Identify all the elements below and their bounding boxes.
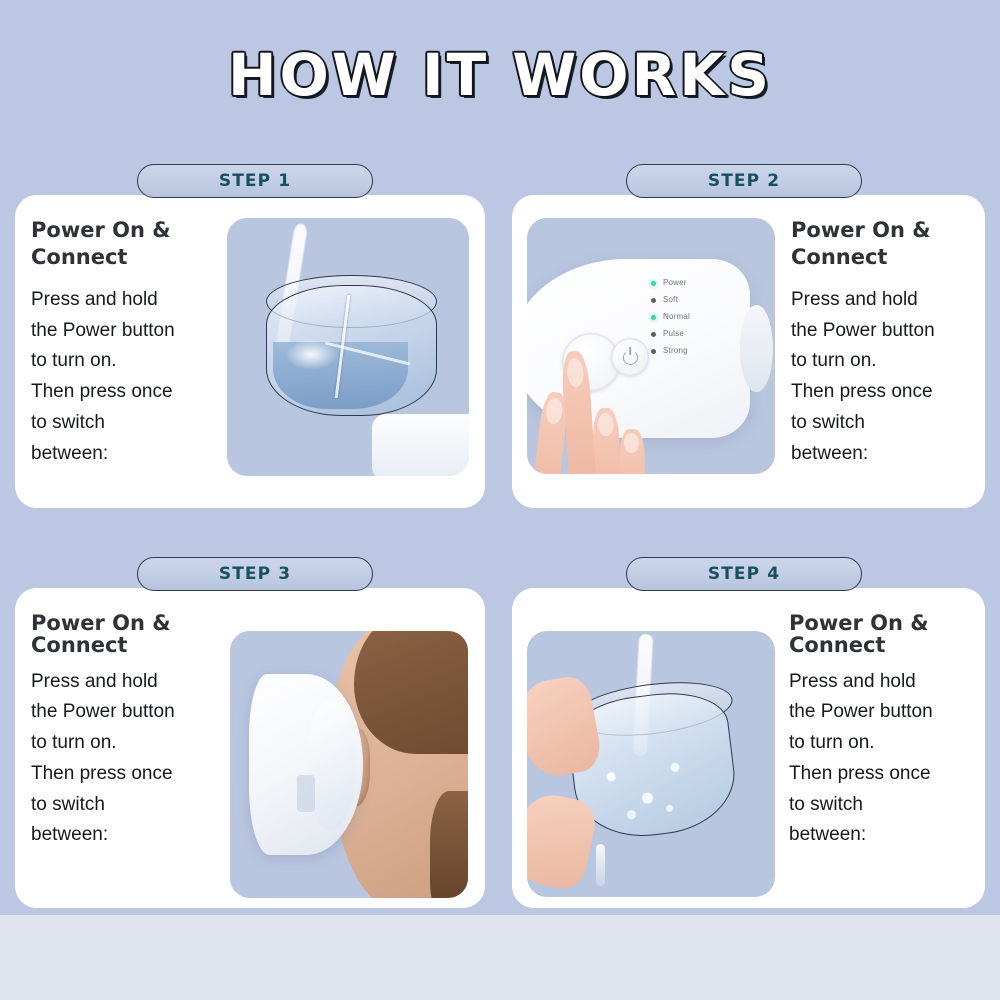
step-card-3: Power On & Connect Press and hold the Po…: [15, 588, 485, 908]
step-body-4: Press and hold the Power button to turn …: [789, 667, 985, 852]
step-text-column-3: Power On & Connect Press and hold the Po…: [15, 612, 220, 851]
fingernail: [624, 433, 640, 453]
step-text-column-1: Power On & Connect Press and hold the Po…: [15, 217, 215, 469]
step-heading-1: Power On & Connect: [31, 217, 215, 271]
finger: [561, 350, 597, 474]
breast-shield-flange: [249, 674, 363, 856]
step-body-2: Press and hold the Power button to turn …: [791, 285, 985, 470]
step-heading-4: Power On & Connect: [789, 612, 985, 657]
hair-strand: [430, 791, 468, 898]
led-row: Normal: [651, 313, 690, 321]
pulse-led-dot: [651, 332, 656, 337]
led-row: Pulse: [651, 330, 690, 338]
step-badge-label-4: STEP 4: [708, 566, 780, 583]
device-side-port: [740, 305, 772, 392]
step-card-1: Power On & Connect Press and hold the Po…: [15, 195, 485, 508]
page-title: HOW IT WORKS: [228, 46, 772, 104]
infographic-page: HOW IT WORKS STEP 1 Power On & Connect P…: [0, 0, 1000, 1000]
step-text-column-4: Power On & Connect Press and hold the Po…: [775, 612, 985, 851]
led-label: Soft: [663, 296, 678, 304]
hand-pressing-button: [532, 341, 661, 474]
flange-tab: [297, 775, 315, 811]
device-base-unit: [372, 414, 469, 476]
panel-scene: Power Soft Normal Pulse: [527, 218, 775, 474]
step-body-3: Press and hold the Power button to turn …: [31, 667, 220, 852]
led-label: Power: [663, 279, 687, 287]
normal-led-dot: [651, 315, 656, 320]
water-splash: [285, 339, 338, 370]
step-card-2: Power On & Connect Press and hold the Po…: [512, 195, 985, 508]
finger: [592, 408, 621, 474]
step-heading-2: Power On & Connect: [791, 217, 985, 271]
finger: [619, 429, 645, 474]
step-badge-label-1: STEP 1: [219, 173, 291, 190]
page-title-wrap: HOW IT WORKS: [0, 46, 1000, 104]
rinse-scene: [527, 631, 775, 897]
step-badge-2: STEP 2: [626, 164, 862, 198]
led-row: Power: [651, 279, 690, 287]
step-badge-3: STEP 3: [137, 557, 373, 591]
step-badge-label-3: STEP 3: [219, 566, 291, 583]
fingernail: [597, 413, 614, 437]
water-tank-filling-illustration: [227, 218, 469, 476]
water-bubbles: [582, 740, 720, 835]
overflow-drip: [596, 844, 605, 887]
soft-led-dot: [651, 298, 656, 303]
fingernail: [566, 357, 585, 388]
step-text-column-2: Power On & Connect Press and hold the Po…: [775, 217, 985, 469]
step-card-4: Power On & Connect Press and hold the Po…: [512, 588, 985, 908]
led-label: Pulse: [663, 330, 684, 338]
step-badge-1: STEP 1: [137, 164, 373, 198]
led-row: Soft: [651, 296, 690, 304]
step-body-1: Press and hold the Power button to turn …: [31, 285, 215, 470]
fingernail: [545, 397, 564, 425]
tank-scene: [227, 218, 469, 476]
rinsing-tank-illustration: [527, 631, 775, 897]
step-heading-3: Power On & Connect: [31, 612, 220, 657]
device-control-panel-illustration: Power Soft Normal Pulse: [527, 218, 775, 474]
led-label: Normal: [663, 313, 690, 321]
hand-upper: [527, 673, 604, 780]
flange-on-ear-illustration: [230, 631, 468, 898]
step-badge-4: STEP 4: [626, 557, 862, 591]
led-label: Strong: [663, 347, 688, 355]
power-led-dot: [651, 281, 656, 286]
step-badge-label-2: STEP 2: [708, 173, 780, 190]
ear-scene: [230, 631, 468, 898]
